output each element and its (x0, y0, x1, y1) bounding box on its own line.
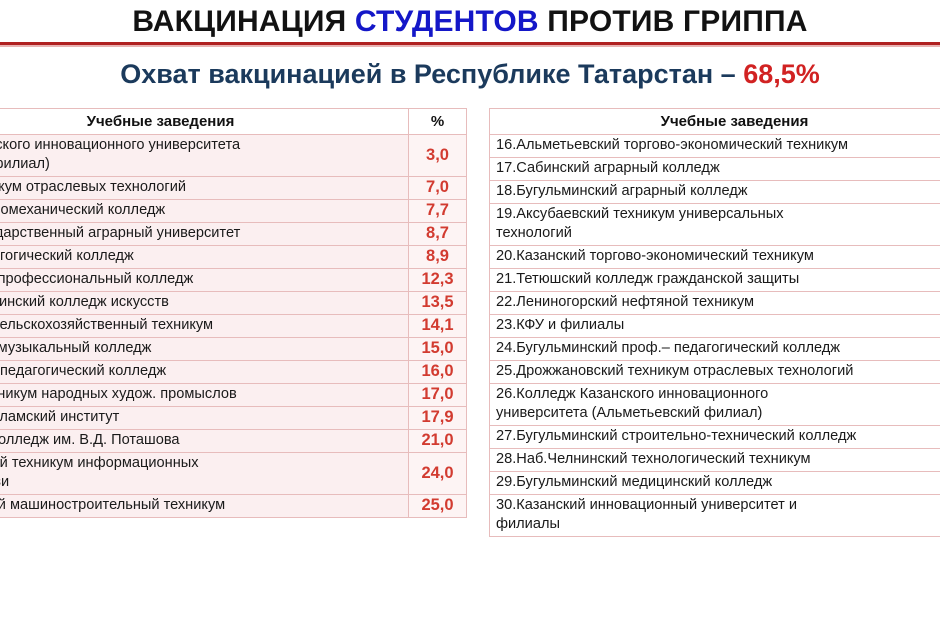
table-row: 26.Колледж Казанского инновационногоунив… (490, 384, 940, 426)
coverage-percent-cell: 17,9 (409, 407, 467, 430)
institution-name-cell: 26.Колледж Казанского инновационногоунив… (490, 384, 940, 426)
institutions-table-left: Учебные заведения % …дж Казанского иннов… (0, 108, 467, 518)
table-row: …ийский исламский институт17,9 (0, 407, 467, 430)
institution-name-cell: …линский сельскохозяйственный техникум (0, 315, 409, 338)
table-header-row: Учебные заведения (490, 109, 940, 135)
institution-name-cell: …-Казанский техникум информационных…гий … (0, 453, 409, 495)
column-header-percent: % (409, 109, 467, 135)
coverage-percent-cell: 12,3 (409, 269, 467, 292)
institution-name-cell: 18.Бугульминский аграрный колледж (490, 181, 940, 204)
title-text-wrapper: ВАКЦИНАЦИЯ СТУДЕНТОВ ПРОТИВ ГРИППА (132, 5, 807, 38)
institution-name-cell: 21.Тетюшский колледж гражданской защиты (490, 269, 940, 292)
coverage-percent-cell: 7,7 (409, 200, 467, 223)
institution-name-cell: …елинский педагогический колледж (0, 361, 409, 384)
table-row: 19.Аксубаевский техникум универсальныхте… (490, 204, 940, 246)
table-row: 25.Дрожжановский техникум отраслевых тех… (490, 361, 940, 384)
title-highlight-studentov: СТУДЕНТОВ (355, 5, 539, 38)
table-row: …дж Казанского инновационного университе… (0, 135, 467, 177)
table-row: 28.Наб.Челнинский технологический техник… (490, 449, 940, 472)
table-row: 29.Бугульминский медицинский колледж (490, 472, 940, 495)
column-header-institutions: Учебные заведения (0, 109, 409, 135)
subtitle-text: Охват вакцинацией в Республике Татарстан… (120, 59, 743, 89)
coverage-percent-cell: 25,0 (409, 495, 467, 518)
slide-subtitle: Охват вакцинацией в Республике Татарстан… (0, 52, 940, 96)
institution-name-cell: 24.Бугульминский проф.– педагогический к… (490, 338, 940, 361)
institution-name-cell: 20.Казанский торгово-экономический техни… (490, 246, 940, 269)
title-part-2: ПРОТИВ ГРИППА (539, 5, 808, 38)
table-header-row: Учебные заведения % (0, 109, 467, 135)
table-row: 23.КФУ и филиалы (490, 315, 940, 338)
slide-title: ВАКЦИНАЦИЯ СТУДЕНТОВ ПРОТИВ ГРИППА (0, 2, 940, 44)
table-row: …ический колледж им. В.Д. Поташова21,0 (0, 430, 467, 453)
table-row: …ский педагогический колледж8,9 (0, 246, 467, 269)
institution-name-cell: …ский педагогический колледж (0, 246, 409, 269)
coverage-percent-cell: 14,1 (409, 315, 467, 338)
table-row: 16.Альметьевский торгово-экономический т… (490, 135, 940, 158)
institution-name-cell: 23.КФУ и филиалы (490, 315, 940, 338)
institution-name-cell: 17.Сабинский аграрный колледж (490, 158, 940, 181)
table-row: 27.Бугульминский строительно-технический… (490, 426, 940, 449)
institution-name-cell: …ический колледж им. В.Д. Поташова (0, 430, 409, 453)
table-row: …тьевский профессиональный колледж12,3 (0, 269, 467, 292)
title-part-1: ВАКЦИНАЦИЯ (132, 5, 355, 38)
institution-name-cell: …дж Казанского инновационного университе… (0, 135, 409, 177)
institution-name-cell: 16.Альметьевский торгово-экономический т… (490, 135, 940, 158)
institution-name-cell: …ский государственный аграрный университ… (0, 223, 409, 246)
left-table-body: …дж Казанского инновационного университе… (0, 135, 467, 518)
coverage-percent-cell: 8,9 (409, 246, 467, 269)
coverage-percent-cell: 17,0 (409, 384, 467, 407)
table-row: …ежночелнинский колледж искусств13,5 (0, 292, 467, 315)
table-row: …елинский педагогический колледж16,0 (0, 361, 467, 384)
coverage-percent-cell: 24,0 (409, 453, 467, 495)
slide-root: ВАКЦИНАЦИЯ СТУДЕНТОВ ПРОТИВ ГРИППА Охват… (0, 0, 940, 627)
table-row: …ский государственный аграрный университ… (0, 223, 467, 246)
title-divider-rule-light (0, 45, 940, 47)
institution-name-cell: 28.Наб.Челнинский технологический техник… (490, 449, 940, 472)
coverage-percent-cell: 13,5 (409, 292, 467, 315)
institution-name-cell: 22.Лениногорский нефтяной техникум (490, 292, 940, 315)
table-row: 24.Бугульминский проф.– педагогический к… (490, 338, 940, 361)
table-row: 22.Лениногорский нефтяной техникум (490, 292, 940, 315)
coverage-percent-cell: 16,0 (409, 361, 467, 384)
institution-name-cell: …ежночелнинский колледж искусств (0, 292, 409, 315)
table-row: 21.Тетюшский колледж гражданской защиты (490, 269, 940, 292)
table-row: 30.Казанский инновационный университет и… (490, 495, 940, 537)
institution-name-cell: …ийский исламский институт (0, 407, 409, 430)
coverage-percent-cell: 21,0 (409, 430, 467, 453)
coverage-percent-cell: 7,0 (409, 177, 467, 200)
institution-name-cell: 29.Бугульминский медицинский колледж (490, 472, 940, 495)
coverage-percent-cell: 15,0 (409, 338, 467, 361)
table-row: …кий техникум отраслевых технологий7,0 (0, 177, 467, 200)
table-row: 17.Сабинский аграрный колледж (490, 158, 940, 181)
table-row: …ский радиомеханический колледж7,7 (0, 200, 467, 223)
table-row: 20.Казанский торгово-экономический техни… (490, 246, 940, 269)
table-row: 18.Бугульминский аграрный колледж (490, 181, 940, 204)
table-row: …линский сельскохозяйственный техникум14… (0, 315, 467, 338)
institution-name-cell: …льминский машиностроительный техникум (0, 495, 409, 518)
institution-name-cell: …кий техникум отраслевых технологий (0, 177, 409, 200)
table-row: …-Казанский техникум информационных…гий … (0, 453, 467, 495)
right-table-body: 16.Альметьевский торгово-экономический т… (490, 135, 940, 537)
institution-name-cell: 27.Бугульминский строительно-технический… (490, 426, 940, 449)
institution-name-cell: 30.Казанский инновационный университет и… (490, 495, 940, 537)
table-row: …тьевский музыкальный колледж15,0 (0, 338, 467, 361)
institution-name-cell: …тьевский музыкальный колледж (0, 338, 409, 361)
coverage-percent-cell: 8,7 (409, 223, 467, 246)
table-row: …нский техникум народных худож. промысло… (0, 384, 467, 407)
institution-name-cell: 25.Дрожжановский техникум отраслевых тех… (490, 361, 940, 384)
column-header-institutions: Учебные заведения (490, 109, 940, 135)
table-row: …льминский машиностроительный техникум25… (0, 495, 467, 518)
institution-name-cell: …ский радиомеханический колледж (0, 200, 409, 223)
institution-name-cell: 19.Аксубаевский техникум универсальныхте… (490, 204, 940, 246)
coverage-percent-cell: 3,0 (409, 135, 467, 177)
institution-name-cell: …тьевский профессиональный колледж (0, 269, 409, 292)
institution-name-cell: …нский техникум народных худож. промысло… (0, 384, 409, 407)
institutions-table-right: Учебные заведения 16.Альметьевский торго… (489, 108, 940, 537)
subtitle-coverage-value: 68,5% (743, 59, 820, 89)
